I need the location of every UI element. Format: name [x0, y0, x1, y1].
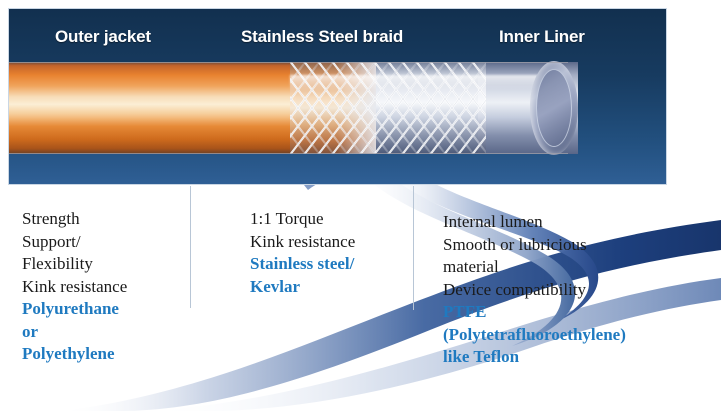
label-stainless-steel-braid: Stainless Steel braid [241, 27, 403, 47]
property-line: 1:1 Torque [250, 208, 420, 231]
material-line: Kevlar [250, 276, 420, 299]
material-line: Polyurethane [22, 298, 192, 321]
material-line: (Polytetrafluoroethylene) [443, 324, 693, 347]
material-line: or [22, 321, 192, 344]
label-inner-liner: Inner Liner [499, 27, 585, 47]
material-line: like Teflon [443, 346, 693, 369]
panel-label-row: Outer jacket Stainless Steel braid Inner… [9, 9, 667, 59]
column-outer-jacket-properties: Strength Support/ Flexibility Kink resis… [22, 208, 192, 366]
property-line: Device compatibility [443, 279, 693, 302]
tube-lumen-opening [536, 69, 572, 147]
illustration-panel: Outer jacket Stainless Steel braid Inner… [8, 8, 667, 185]
property-line: material [443, 256, 693, 279]
column-inner-liner-properties: Internal lumen Smooth or lubricious mate… [443, 211, 693, 369]
property-line: Smooth or lubricious [443, 234, 693, 257]
material-line: Stainless steel/ [250, 253, 420, 276]
label-outer-jacket: Outer jacket [55, 27, 151, 47]
property-line: Internal lumen [443, 211, 693, 234]
outer-jacket-layer [8, 62, 296, 154]
material-line: PTFE [443, 301, 693, 324]
tube-gloss-highlight [290, 75, 566, 91]
property-line: Support/ [22, 231, 192, 254]
property-line: Flexibility [22, 253, 192, 276]
material-line: Polyethylene [22, 343, 192, 366]
column-braid-properties: 1:1 Torque Kink resistance Stainless ste… [250, 208, 420, 298]
property-line: Kink resistance [22, 276, 192, 299]
property-line: Kink resistance [250, 231, 420, 254]
slide-canvas: Outer jacket Stainless Steel braid Inner… [0, 0, 721, 411]
catheter-tube-illustration [8, 62, 578, 154]
property-line: Strength [22, 208, 192, 231]
